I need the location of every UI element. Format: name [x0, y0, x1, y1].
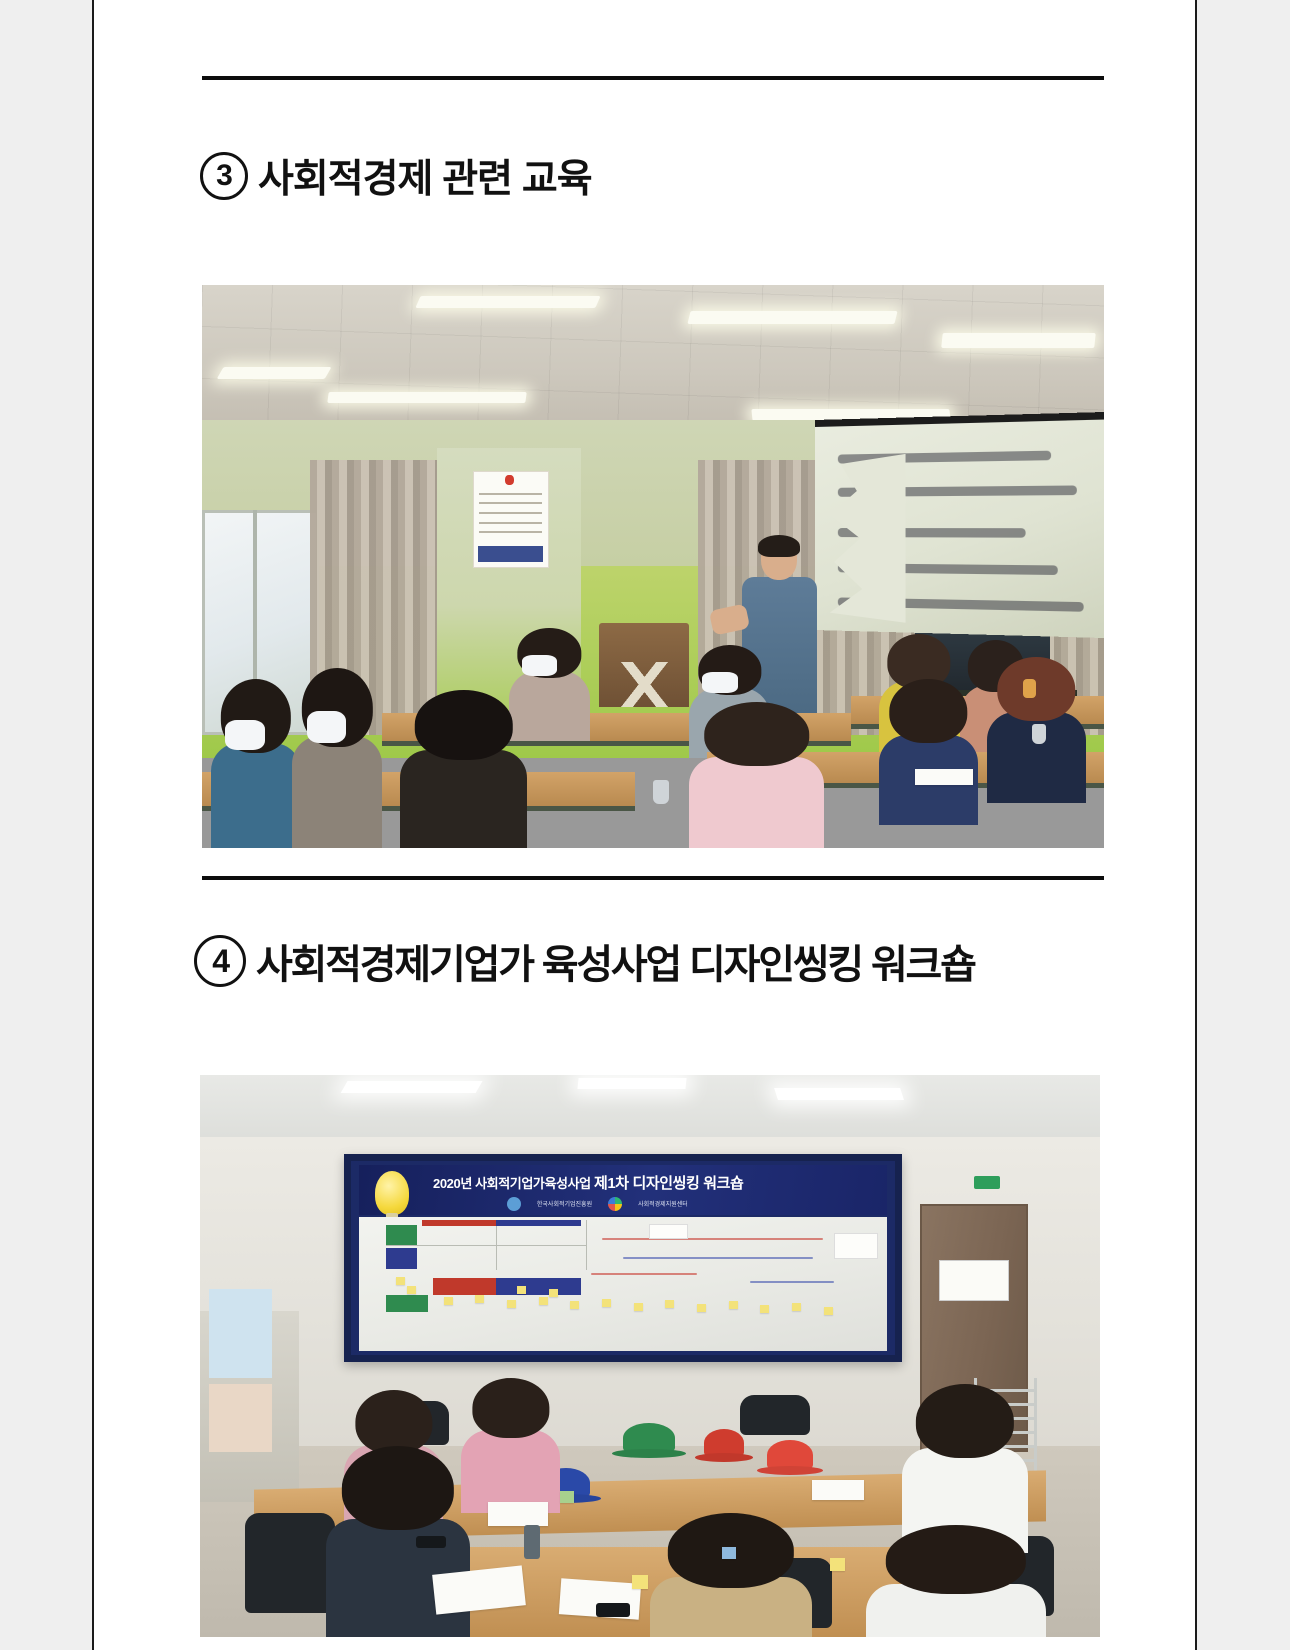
paper	[915, 769, 973, 785]
sticky-note	[632, 1575, 648, 1589]
section-number-badge-4: 4	[194, 935, 246, 987]
ceiling-light-icon	[687, 311, 898, 324]
banner-title: 2020년 사회적기업가육성사업 제1차 디자인씽킹 워크숍	[433, 1172, 876, 1193]
ceiling-light-icon	[774, 1088, 904, 1100]
paper	[488, 1502, 548, 1526]
ceiling-light-icon	[577, 1078, 686, 1089]
section-title-4: 사회적경제기업가 육성사업 디자인씽킹 워크숍	[256, 932, 975, 990]
banner-program: 2020년 사회적기업가육성사업	[433, 1176, 591, 1191]
calendar-accent	[505, 475, 514, 486]
ceiling-light-icon	[416, 296, 602, 308]
social-economy-support-center-logo	[608, 1197, 622, 1211]
office-chair	[245, 1513, 335, 1613]
section-heading-4: 4 사회적경제기업가 육성사업 디자인씽킹 워크숍	[194, 932, 975, 990]
ceiling-light-icon	[340, 1081, 482, 1093]
door-sign	[939, 1260, 1010, 1301]
wall-calendar-poster	[473, 471, 549, 569]
attendee	[689, 702, 824, 848]
podium-emblem	[613, 662, 676, 707]
korea-social-enterprise-logo	[507, 1197, 521, 1211]
logo-label-2: 사회적경제지원센터	[638, 1199, 688, 1208]
sticky-note	[560, 1491, 574, 1503]
section-number-badge-3: 3	[200, 152, 248, 200]
attendee	[879, 679, 978, 825]
banner-logo-group: 한국사회적기업진흥원 사회적경제지원센터	[507, 1197, 688, 1211]
smartphone	[416, 1536, 446, 1548]
drink-cup	[1023, 679, 1036, 698]
red-hat	[767, 1440, 813, 1470]
sticky-note	[830, 1558, 845, 1571]
logo-label-1: 한국사회적기업진흥원	[537, 1199, 592, 1208]
attendee	[400, 690, 526, 848]
workshop-whiteboard: 2020년 사회적기업가육성사업 제1차 디자인씽킹 워크숍 한국사회적기업진흥…	[344, 1154, 902, 1362]
green-hat	[623, 1423, 675, 1453]
lightbulb-icon	[375, 1171, 409, 1215]
sticky-note	[722, 1547, 736, 1559]
ceiling-light-icon	[327, 392, 527, 403]
drink-cup	[653, 780, 669, 804]
participant	[461, 1378, 560, 1513]
smartphone	[596, 1603, 630, 1617]
section-title-3: 사회적경제 관련 교육	[258, 148, 592, 204]
workshop-banner: 2020년 사회적기업가육성사업 제1차 디자인씽킹 워크숍 한국사회적기업진흥…	[359, 1165, 887, 1215]
ceiling-light-icon	[941, 333, 1096, 348]
document-page: 3 사회적경제 관련 교육	[92, 0, 1197, 1650]
design-thinking-workshop-photo: 2020년 사회적기업가육성사업 제1차 디자인씽킹 워크숍 한국사회적기업진흥…	[200, 1075, 1100, 1637]
paper	[812, 1480, 864, 1500]
side-poster	[209, 1289, 272, 1379]
whiteboard-surface	[359, 1217, 887, 1351]
exit-sign-icon	[974, 1176, 1000, 1189]
red-hat	[704, 1429, 744, 1457]
classroom-lecture-photo	[202, 285, 1104, 848]
participant	[650, 1513, 812, 1637]
section-divider-bottom	[202, 876, 1104, 880]
participant	[866, 1525, 1046, 1637]
drink-cup	[1032, 724, 1046, 744]
banner-emphasis: 제1차 디자인씽킹 워크숍	[594, 1175, 743, 1192]
ceiling-grid	[202, 285, 1104, 431]
office-chair	[740, 1395, 810, 1435]
tumbler	[524, 1525, 540, 1559]
calendar-footer	[478, 546, 543, 561]
attendee	[211, 679, 301, 848]
side-poster	[209, 1384, 272, 1451]
section-divider-top	[202, 76, 1104, 80]
attendee	[292, 668, 382, 848]
section-heading-3: 3 사회적경제 관련 교육	[200, 148, 592, 204]
ceiling-light-icon	[216, 367, 331, 379]
